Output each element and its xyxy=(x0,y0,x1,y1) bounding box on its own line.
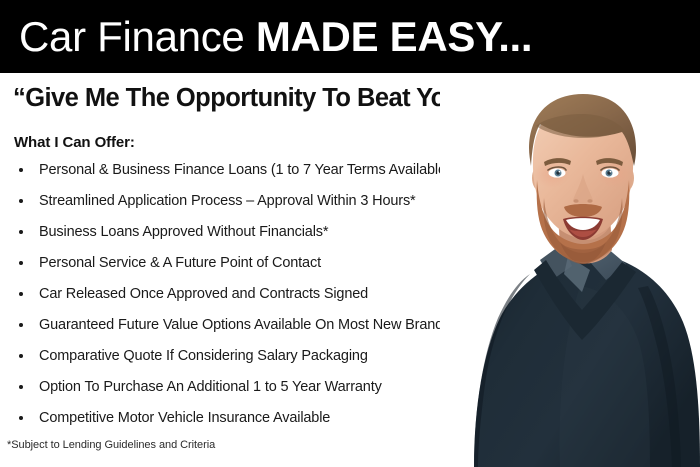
list-item: Guaranteed Future Value Options Availabl… xyxy=(14,315,514,346)
list-item: Personal Service & A Future Point of Con… xyxy=(14,253,514,284)
bullet-dot-icon xyxy=(19,416,23,420)
bullet-dot-icon xyxy=(19,230,23,234)
list-item-label: Business Loans Approved Without Financia… xyxy=(39,224,328,240)
list-item: Competitive Motor Vehicle Insurance Avai… xyxy=(14,408,514,439)
list-item-label: Competitive Motor Vehicle Insurance Avai… xyxy=(39,410,330,426)
list-item-label: Car Released Once Approved and Contracts… xyxy=(39,286,368,302)
offer-heading: What I Can Offer: xyxy=(14,133,135,153)
list-item-label: Guaranteed Future Value Options Availabl… xyxy=(39,317,450,333)
list-item-label: Comparative Quote If Considering Salary … xyxy=(39,348,368,364)
bullet-dot-icon xyxy=(19,199,23,203)
list-item: Car Released Once Approved and Contracts… xyxy=(14,284,514,315)
list-item-label: Personal & Business Finance Loans (1 to … xyxy=(39,162,451,178)
bullet-dot-icon xyxy=(19,323,23,327)
list-item-label: Streamlined Application Process – Approv… xyxy=(39,193,416,209)
list-item: Option To Purchase An Additional 1 to 5 … xyxy=(14,377,514,408)
bullet-dot-icon xyxy=(19,168,23,172)
headline-quote: “Give Me The Opportunity To Beat Your Be… xyxy=(13,82,689,114)
header-banner: Car Finance MADE EASY... xyxy=(0,0,700,73)
bullet-dot-icon xyxy=(19,354,23,358)
list-item: Business Loans Approved Without Financia… xyxy=(14,222,514,253)
list-item: Personal & Business Finance Loans (1 to … xyxy=(14,160,514,191)
ad-poster: Car Finance MADE EASY... “Give Me The Op… xyxy=(0,0,700,467)
list-item: Streamlined Application Process – Approv… xyxy=(14,191,514,222)
bullet-dot-icon xyxy=(19,292,23,296)
list-item: Comparative Quote If Considering Salary … xyxy=(14,346,514,377)
list-item-label: Option To Purchase An Additional 1 to 5 … xyxy=(39,379,382,395)
list-item-label: Personal Service & A Future Point of Con… xyxy=(39,255,321,271)
offer-bullet-list: Personal & Business Finance Loans (1 to … xyxy=(14,160,514,439)
bullet-dot-icon xyxy=(19,261,23,265)
page-title: Car Finance MADE EASY... xyxy=(19,9,532,65)
page-title-light: Car Finance xyxy=(19,13,256,60)
disclaimer-text: *Subject to Lending Guidelines and Crite… xyxy=(7,438,215,453)
bullet-dot-icon xyxy=(19,385,23,389)
page-title-bold: MADE EASY... xyxy=(256,13,532,60)
